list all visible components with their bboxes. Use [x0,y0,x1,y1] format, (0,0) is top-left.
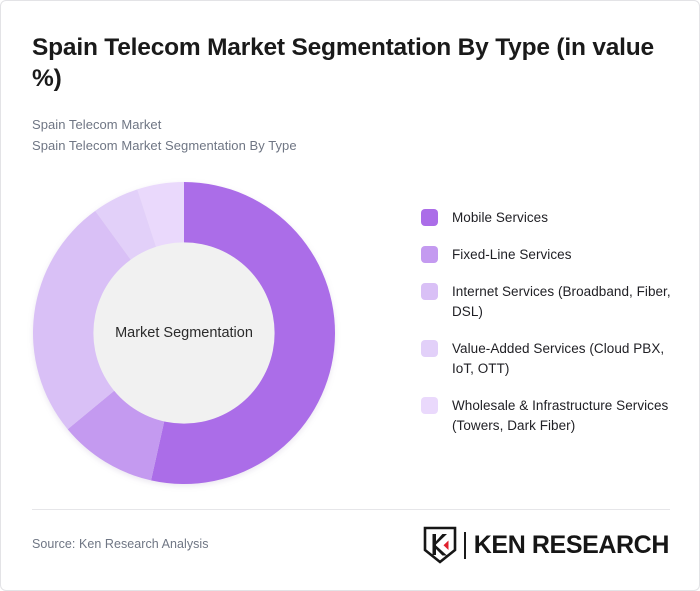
legend-color-swatch [421,340,438,357]
legend-item-label: Fixed-Line Services [452,245,572,265]
legend-color-swatch [421,246,438,263]
donut-hole [93,242,274,423]
chart-card: Spain Telecom Market Segmentation By Typ… [0,0,700,591]
brand-name: KEN RESEARCH [474,531,669,560]
brand-divider [464,532,466,559]
subtitle-market: Spain Telecom Market [32,114,632,135]
donut-chart-svg [33,182,335,484]
subtitle-segmentation: Spain Telecom Market Segmentation By Typ… [32,135,632,156]
subtitle-block: Spain Telecom Market Spain Telecom Marke… [32,114,632,156]
legend-item[interactable]: Wholesale & Infrastructure Services (Tow… [421,396,671,436]
legend-item[interactable]: Internet Services (Broadband, Fiber, DSL… [421,282,671,322]
legend-color-swatch [421,209,438,226]
legend-item[interactable]: Value-Added Services (Cloud PBX, IoT, OT… [421,339,671,379]
ken-research-shield-k-icon [423,526,457,564]
legend-item[interactable]: Mobile Services [421,208,671,228]
legend-item-label: Wholesale & Infrastructure Services (Tow… [452,396,671,436]
donut-chart: Market Segmentation [33,182,335,484]
chart-legend: Mobile ServicesFixed-Line ServicesIntern… [421,208,671,453]
legend-item-label: Value-Added Services (Cloud PBX, IoT, OT… [452,339,671,379]
source-note: Source: Ken Research Analysis [32,537,209,551]
legend-item-label: Internet Services (Broadband, Fiber, DSL… [452,282,671,322]
legend-color-swatch [421,283,438,300]
page-title: Spain Telecom Market Segmentation By Typ… [32,32,664,95]
legend-item-label: Mobile Services [452,208,548,228]
legend-item[interactable]: Fixed-Line Services [421,245,671,265]
brand-logo: KEN RESEARCH [423,525,669,565]
legend-color-swatch [421,397,438,414]
footer-divider [32,509,670,510]
